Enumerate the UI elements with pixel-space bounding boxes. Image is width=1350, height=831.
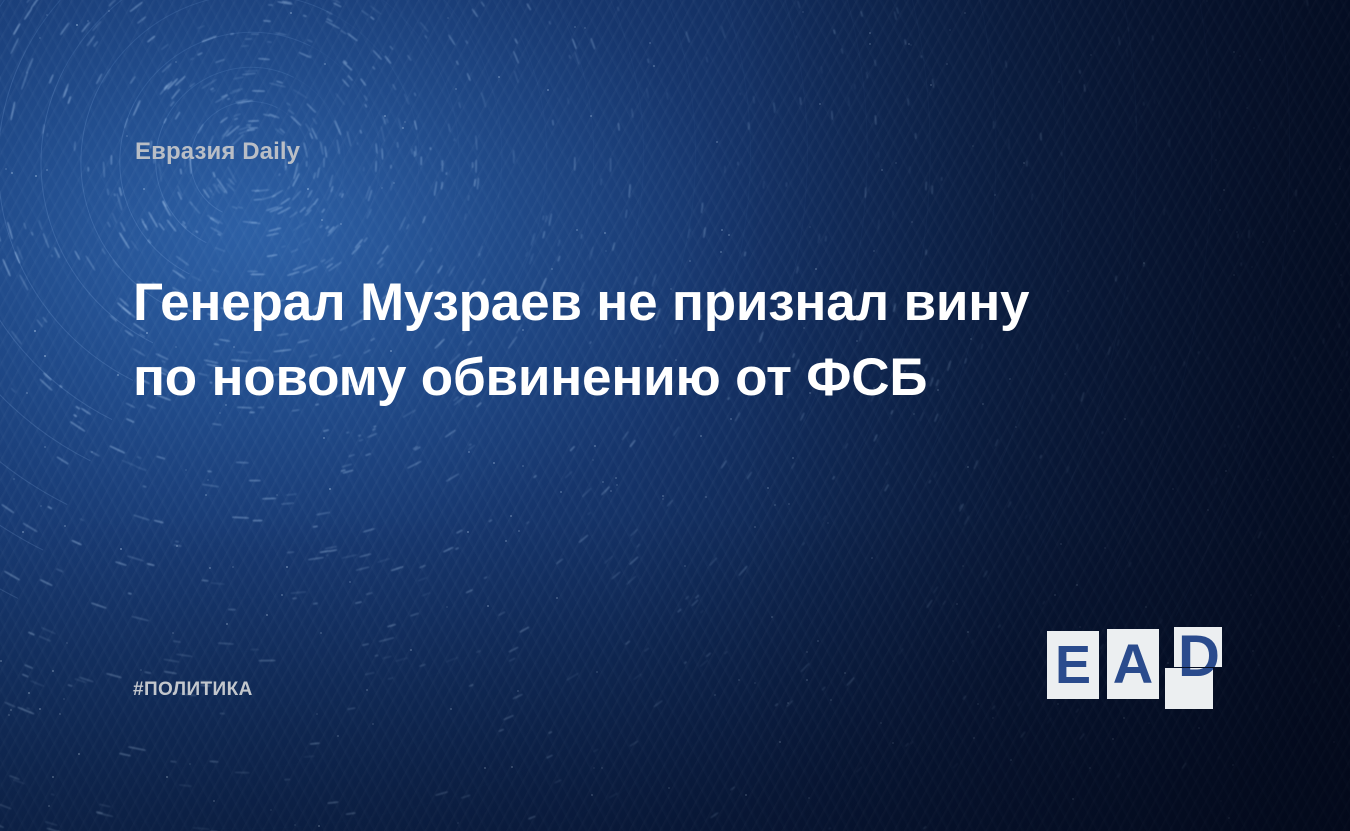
logo-tile-e: E bbox=[1047, 631, 1099, 699]
page-title: Генерал Музраев не признал вину по новом… bbox=[133, 265, 1093, 416]
logo-letter-e: E bbox=[1055, 638, 1091, 692]
headline-line-1: Генерал Музраев не признал вину bbox=[133, 265, 1093, 340]
news-card: Евразия Daily Генерал Музраев не признал… bbox=[0, 0, 1350, 831]
logo-letter-d-upper: D bbox=[1178, 628, 1220, 667]
category-tag[interactable]: #ПОЛИТИКА bbox=[133, 679, 253, 701]
headline-line-2: по новому обвинению от ФСБ bbox=[133, 340, 1093, 415]
logo-letter-a: A bbox=[1113, 636, 1153, 692]
brand-name: Евразия Daily bbox=[135, 138, 300, 166]
logo-letter-d-lower: D bbox=[1178, 668, 1213, 686]
logo-tile-a: A bbox=[1107, 629, 1159, 699]
logo-tile-d-bottom: D bbox=[1165, 668, 1213, 709]
logo-tile-d-top: D bbox=[1174, 627, 1222, 667]
ead-logo[interactable]: E A D D bbox=[1047, 627, 1222, 709]
